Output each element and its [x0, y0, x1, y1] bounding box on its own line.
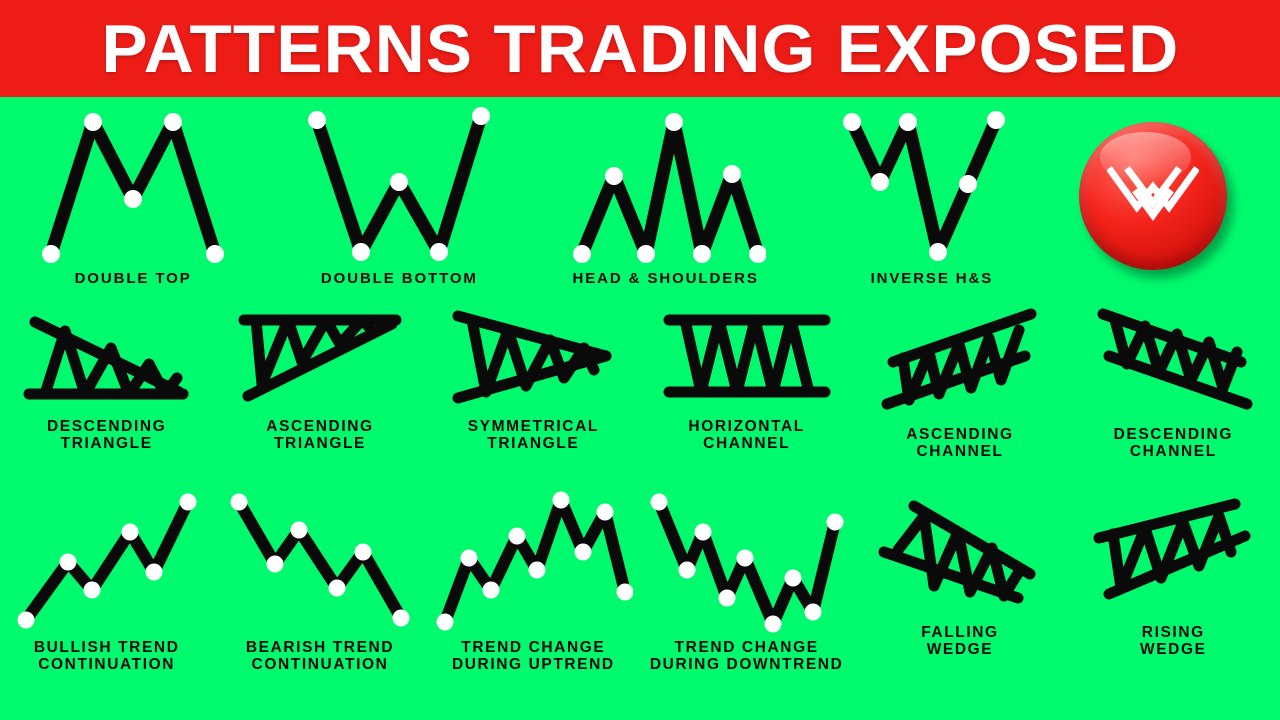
horizontal-channel-chart-icon: [659, 300, 834, 412]
pattern-cell-symmetrical-triangle[interactable]: SYMMETRICAL TRIANGLE: [427, 300, 640, 472]
pattern-label: DOUBLE BOTTOM: [321, 270, 478, 287]
pattern-label: BULLISH TREND CONTINUATION: [34, 639, 180, 673]
pattern-cell-horizontal-channel[interactable]: HORIZONTAL CHANNEL: [640, 300, 853, 472]
pattern-label: INVERSE H&S: [871, 270, 994, 287]
pattern-cell-ascending-triangle[interactable]: ASCENDING TRIANGLE: [213, 300, 426, 472]
pattern-cell-bullish-trend-continuation[interactable]: BULLISH TREND CONTINUATION: [0, 490, 213, 692]
pattern-label: DESCENDING CHANNEL: [1114, 426, 1233, 460]
pattern-row-reversals: DOUBLE TOP DOUBLE BOTTOM: [0, 104, 1065, 292]
ascending-channel-chart-icon: [867, 300, 1052, 420]
pattern-label: TREND CHANGE DURING DOWNTREND: [650, 639, 844, 673]
pattern-label: RISING WEDGE: [1140, 624, 1207, 658]
descending-triangle-chart-icon: [19, 300, 194, 412]
brand-logo-badge: [1079, 122, 1227, 270]
double-bottom-chart-icon: [299, 104, 499, 264]
pattern-label: TREND CHANGE DURING UPTREND: [452, 639, 615, 673]
pattern-label: SYMMETRICAL TRIANGLE: [468, 418, 599, 452]
pattern-cell-descending-channel[interactable]: DESCENDING CHANNEL: [1067, 300, 1280, 472]
pattern-cell-trend-change-during-downtrend[interactable]: TREND CHANGE DURING DOWNTREND: [640, 490, 853, 692]
bullish-trend-continuation-chart-icon: [12, 490, 202, 635]
inverse-head-and-shoulders-chart-icon: [832, 104, 1032, 264]
pattern-cell-rising-wedge[interactable]: RISING WEDGE: [1067, 490, 1280, 692]
pattern-label: HORIZONTAL CHANNEL: [688, 418, 804, 452]
pattern-row-triangles-channels: DESCENDING TRIANGLE ASCENDING TRIANGLE: [0, 300, 1280, 472]
trend-change-during-downtrend-chart-icon: [647, 490, 847, 635]
pattern-cell-double-top[interactable]: DOUBLE TOP: [0, 104, 266, 292]
pattern-cell-inverse-head-and-shoulders[interactable]: INVERSE H&S: [799, 104, 1065, 292]
pattern-cell-double-bottom[interactable]: DOUBLE BOTTOM: [266, 104, 532, 292]
w-chevron-logo-icon: [1107, 163, 1199, 229]
descending-channel-chart-icon: [1081, 300, 1266, 420]
head-and-shoulders-chart-icon: [566, 104, 766, 264]
pattern-cell-head-and-shoulders[interactable]: HEAD & SHOULDERS: [533, 104, 799, 292]
pattern-label: DOUBLE TOP: [75, 270, 192, 287]
double-top-chart-icon: [33, 104, 233, 264]
pattern-label: DESCENDING TRIANGLE: [47, 418, 166, 452]
pattern-row-trends-wedges: BULLISH TREND CONTINUATION BEARISH TREND…: [0, 490, 1280, 692]
pattern-label: BEARISH TREND CONTINUATION: [246, 639, 394, 673]
ascending-triangle-chart-icon: [232, 300, 407, 412]
trend-change-during-uptrend-chart-icon: [433, 490, 633, 635]
falling-wedge-chart-icon: [870, 490, 1050, 620]
pattern-cell-trend-change-during-uptrend[interactable]: TREND CHANGE DURING UPTREND: [427, 490, 640, 692]
pattern-label: HEAD & SHOULDERS: [573, 270, 759, 287]
pattern-cell-ascending-channel[interactable]: ASCENDING CHANNEL: [853, 300, 1066, 472]
pattern-cell-falling-wedge[interactable]: FALLING WEDGE: [853, 490, 1066, 692]
pattern-label: ASCENDING CHANNEL: [906, 426, 1013, 460]
rising-wedge-chart-icon: [1083, 490, 1263, 620]
pattern-cell-bearish-trend-continuation[interactable]: BEARISH TREND CONTINUATION: [213, 490, 426, 692]
poster-canvas: PATTERNS TRADING EXPOSED DOUBLE TOP: [0, 0, 1280, 720]
pattern-label: ASCENDING TRIANGLE: [266, 418, 373, 452]
symmetrical-triangle-chart-icon: [446, 300, 621, 412]
pattern-label: FALLING WEDGE: [921, 624, 999, 658]
bearish-trend-continuation-chart-icon: [225, 490, 415, 635]
title-banner: PATTERNS TRADING EXPOSED: [0, 0, 1280, 97]
pattern-cell-descending-triangle[interactable]: DESCENDING TRIANGLE: [0, 300, 213, 472]
page-title: PATTERNS TRADING EXPOSED: [101, 15, 1179, 83]
